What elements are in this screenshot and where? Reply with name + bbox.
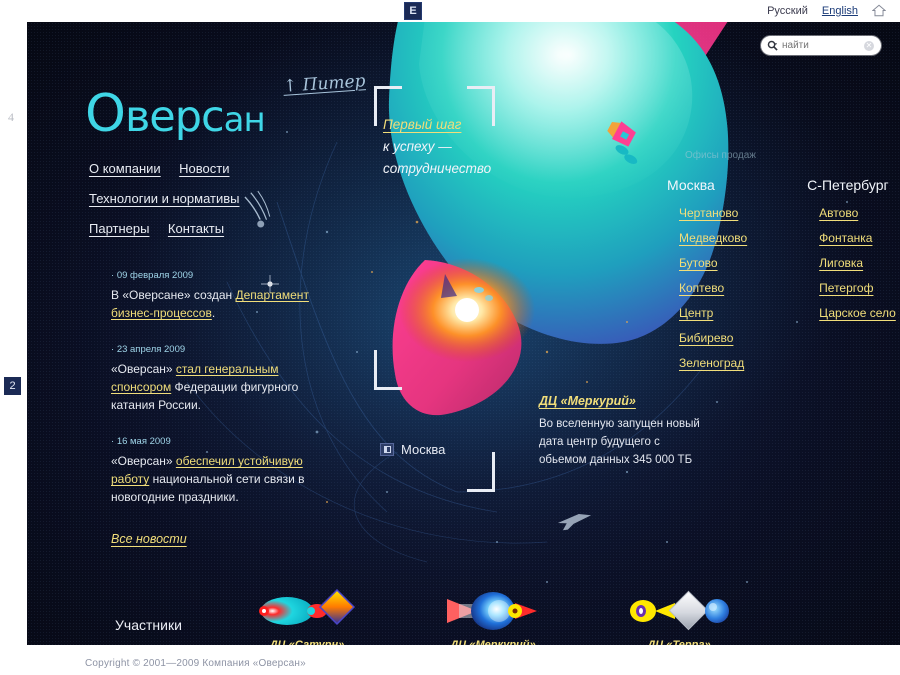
participant-link[interactable]: ДЦ «Сатурн»: [270, 639, 345, 645]
page-canvas: ✕ Оверсан ↑ Питер О компании Новости Тех…: [27, 22, 900, 645]
news-text-before: «Оверсан»: [111, 454, 176, 468]
district-link[interactable]: Коптево: [667, 281, 747, 295]
district-link[interactable]: Медведково: [667, 231, 747, 245]
district-link[interactable]: Бибирево: [667, 331, 747, 345]
search-box[interactable]: ✕: [761, 36, 881, 55]
participant-link[interactable]: ДЦ «Меркурий»: [450, 639, 535, 645]
search-icon: [767, 40, 778, 51]
district-link[interactable]: Царское село: [807, 306, 896, 320]
nav-row-1: О компании Новости: [89, 160, 359, 178]
news-item: 09 февраля 2009 В «Оверсане» создан Депа…: [111, 270, 311, 322]
district-link[interactable]: Бутово: [667, 256, 747, 270]
nav-link-about[interactable]: О компании: [89, 161, 161, 176]
map-marker-label: Москва: [401, 442, 445, 457]
page-root: E 4 2 Русский English: [0, 0, 900, 675]
handwritten-annotation: ↑ Питер: [282, 71, 366, 97]
offices-lists: Москва Чертаново Медведково Бутово Копте…: [667, 177, 896, 381]
nav-link-technologies[interactable]: Технологии и нормативы: [89, 191, 239, 206]
clear-icon[interactable]: ✕: [864, 41, 874, 51]
saturn-logo: [252, 587, 362, 635]
district-link[interactable]: Лиговка: [807, 256, 896, 270]
promo-line-3: обьемом данных 345 000 ТБ: [539, 451, 749, 469]
news-item: 23 апреля 2009 «Оверсан» стал генеральны…: [111, 344, 311, 414]
map-marker-moscow[interactable]: Москва: [380, 442, 445, 457]
browser-badge-e[interactable]: E: [404, 2, 422, 20]
lang-english[interactable]: English: [822, 5, 858, 17]
bracket-bottom-left: [374, 350, 402, 390]
news-list: 09 февраля 2009 В «Оверсане» создан Депа…: [111, 270, 311, 548]
hero-headline: Первый шаг к успеху — сотрудничество: [383, 114, 533, 180]
participant-item: ДЦ «Меркурий»: [438, 587, 548, 645]
news-text-before: В «Оверсане» создан: [111, 288, 235, 302]
promo-title-link[interactable]: ДЦ «Меркурий»: [539, 394, 636, 408]
city-title: Москва: [667, 177, 747, 193]
news-item: 16 мая 2009 «Оверсан» обеспечил устойчив…: [111, 436, 311, 506]
participants-label: Участники: [115, 617, 182, 633]
site-logo[interactable]: Оверсан: [85, 84, 265, 144]
logo-suffix: ан: [224, 100, 265, 140]
promo-line-1: Во вселенную запущен новый: [539, 415, 749, 433]
margin-badge-2[interactable]: 2: [4, 377, 21, 395]
news-date: 23 апреля 2009: [111, 344, 311, 355]
city-column-spb: С-Петербург Автово Фонтанка Лиговка Пете…: [807, 177, 896, 381]
logo-mid: верс: [125, 92, 224, 142]
news-date: 09 февраля 2009: [111, 270, 311, 281]
bracket-bottom-right: [467, 452, 495, 492]
headline-line-3: сотрудничество: [383, 161, 491, 176]
participant-item: ДЦ «Сатурн»: [252, 587, 362, 645]
news-date: 16 мая 2009: [111, 436, 311, 447]
news-text-before: «Оверсан»: [111, 362, 176, 376]
all-news-link[interactable]: Все новости: [111, 532, 187, 546]
news-text: В «Оверсане» создан Департамент бизнес-п…: [111, 286, 311, 322]
lang-russian[interactable]: Русский: [767, 5, 808, 17]
district-link[interactable]: Зеленоград: [667, 356, 747, 370]
language-switcher: Русский English: [767, 4, 886, 17]
district-link[interactable]: Автово: [807, 206, 896, 220]
news-text: «Оверсан» стал генеральным спонсором Фед…: [111, 360, 311, 414]
terra-logo: [624, 587, 734, 635]
nav-link-contacts[interactable]: Контакты: [168, 221, 224, 236]
nav-link-partners[interactable]: Партнеры: [89, 221, 149, 236]
promo-line-2: дата центр будущего с: [539, 433, 749, 451]
participant-item: ДЦ «Терра»: [624, 587, 734, 645]
mercury-logo: [438, 587, 548, 635]
nav-link-news[interactable]: Новости: [179, 161, 229, 176]
district-link[interactable]: Петергоф: [807, 281, 896, 295]
main-navigation: О компании Новости Технологии и норматив…: [89, 160, 359, 250]
copyright-text: Copyright © 2001—2009 Компания «Оверсан»: [85, 658, 306, 669]
nav-row-3: Партнеры Контакты: [89, 220, 359, 238]
datacenter-promo: ДЦ «Меркурий» Во вселенную запущен новый…: [539, 392, 749, 469]
home-icon[interactable]: [872, 4, 886, 17]
city-column-moscow: Москва Чертаново Медведково Бутово Копте…: [667, 177, 747, 381]
nav-row-2: Технологии и нормативы: [89, 190, 359, 208]
map-pin-icon: [380, 443, 394, 456]
news-text-after: .: [212, 306, 215, 320]
district-link[interactable]: Центр: [667, 306, 747, 320]
district-link[interactable]: Фонтанка: [807, 231, 896, 245]
headline-link[interactable]: Первый шаг: [383, 117, 461, 132]
district-link[interactable]: Чертаново: [667, 206, 747, 220]
browser-top-strip: [0, 0, 900, 22]
news-text: «Оверсан» обеспечил устойчивую работу на…: [111, 452, 311, 506]
margin-number: 4: [8, 110, 14, 125]
search-input[interactable]: [782, 40, 860, 51]
logo-letter-o: О: [85, 84, 125, 144]
participant-link[interactable]: ДЦ «Терра»: [647, 639, 710, 645]
participants-list: ДЦ «Сатурн»: [252, 587, 734, 645]
offices-section-label: Офисы продаж: [685, 150, 756, 161]
city-title: С-Петербург: [807, 177, 896, 193]
headline-line-2: к успеху —: [383, 139, 452, 154]
